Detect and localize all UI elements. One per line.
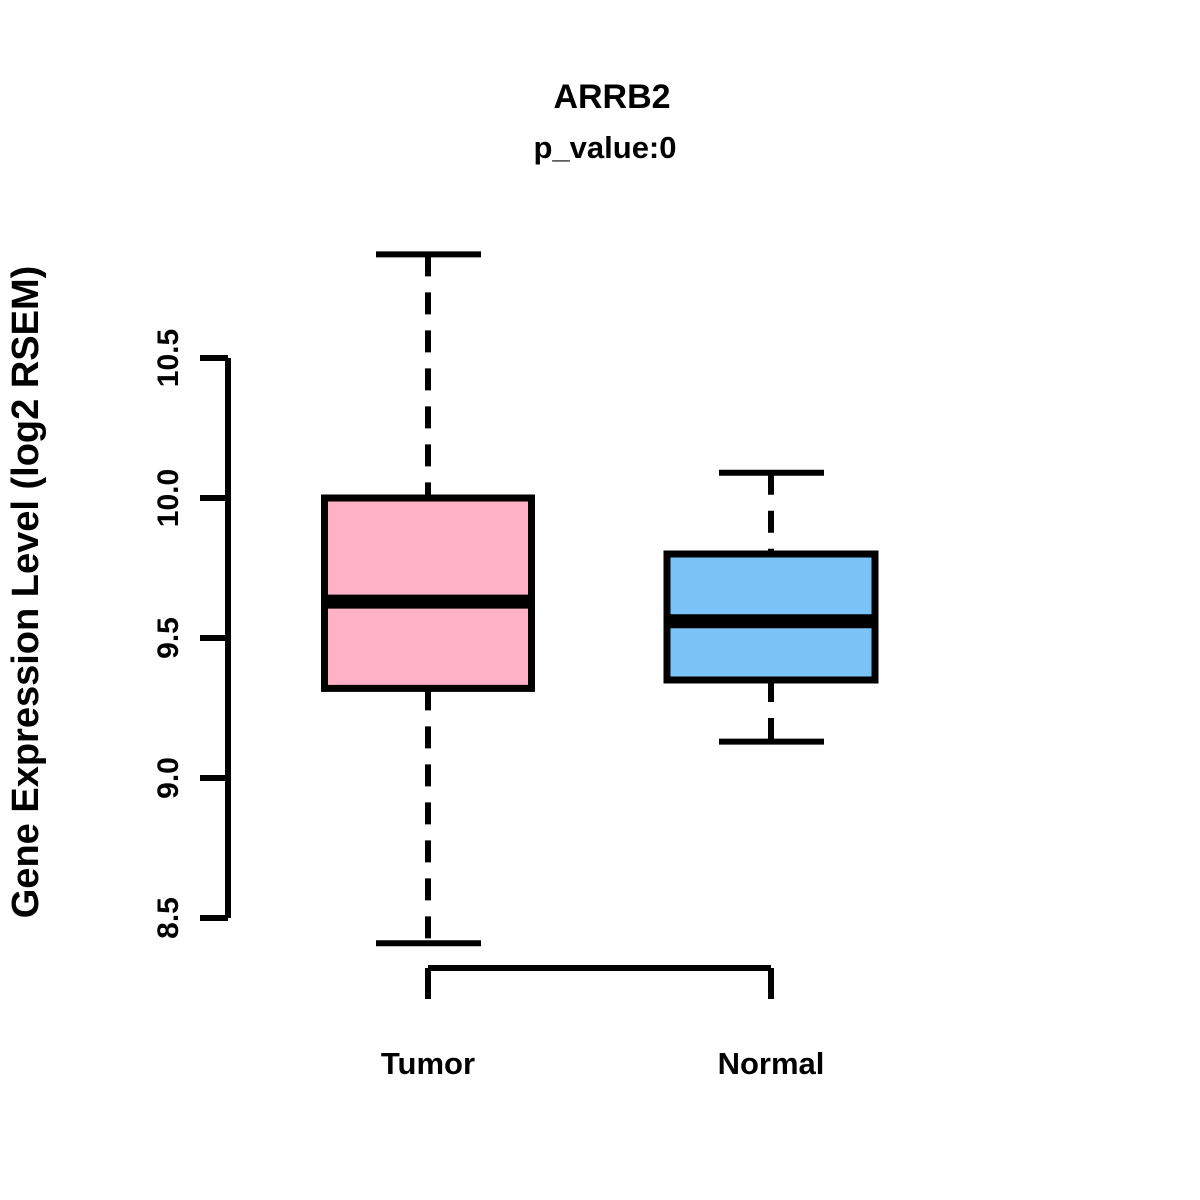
x-label-tumor: Tumor bbox=[381, 1046, 475, 1081]
y-tick-label-4: 10.5 bbox=[152, 329, 185, 387]
tumor-box-body[interactable] bbox=[325, 498, 532, 688]
x-label-normal: Normal bbox=[718, 1046, 825, 1081]
y-tick-label-2: 9.5 bbox=[152, 617, 185, 659]
box-tumor[interactable] bbox=[322, 254, 535, 943]
plot-canvas: ARRB2 p_value:0 Gene Expression Level (l… bbox=[0, 0, 1200, 1200]
boxplot-figure: ARRB2 p_value:0 Gene Expression Level (l… bbox=[0, 0, 1200, 1200]
y-tick-label-3: 10.0 bbox=[152, 469, 185, 527]
y-tick-label-1: 9.0 bbox=[152, 757, 185, 799]
box-normal[interactable] bbox=[664, 473, 878, 742]
y-tick-label-0: 8.5 bbox=[152, 897, 185, 939]
chart-title: ARRB2 bbox=[553, 78, 670, 116]
chart-subtitle: p_value:0 bbox=[533, 130, 676, 165]
y-axis bbox=[200, 358, 228, 918]
y-axis-title: Gene Expression Level (log2 RSEM) bbox=[5, 266, 47, 919]
x-axis bbox=[428, 968, 771, 999]
